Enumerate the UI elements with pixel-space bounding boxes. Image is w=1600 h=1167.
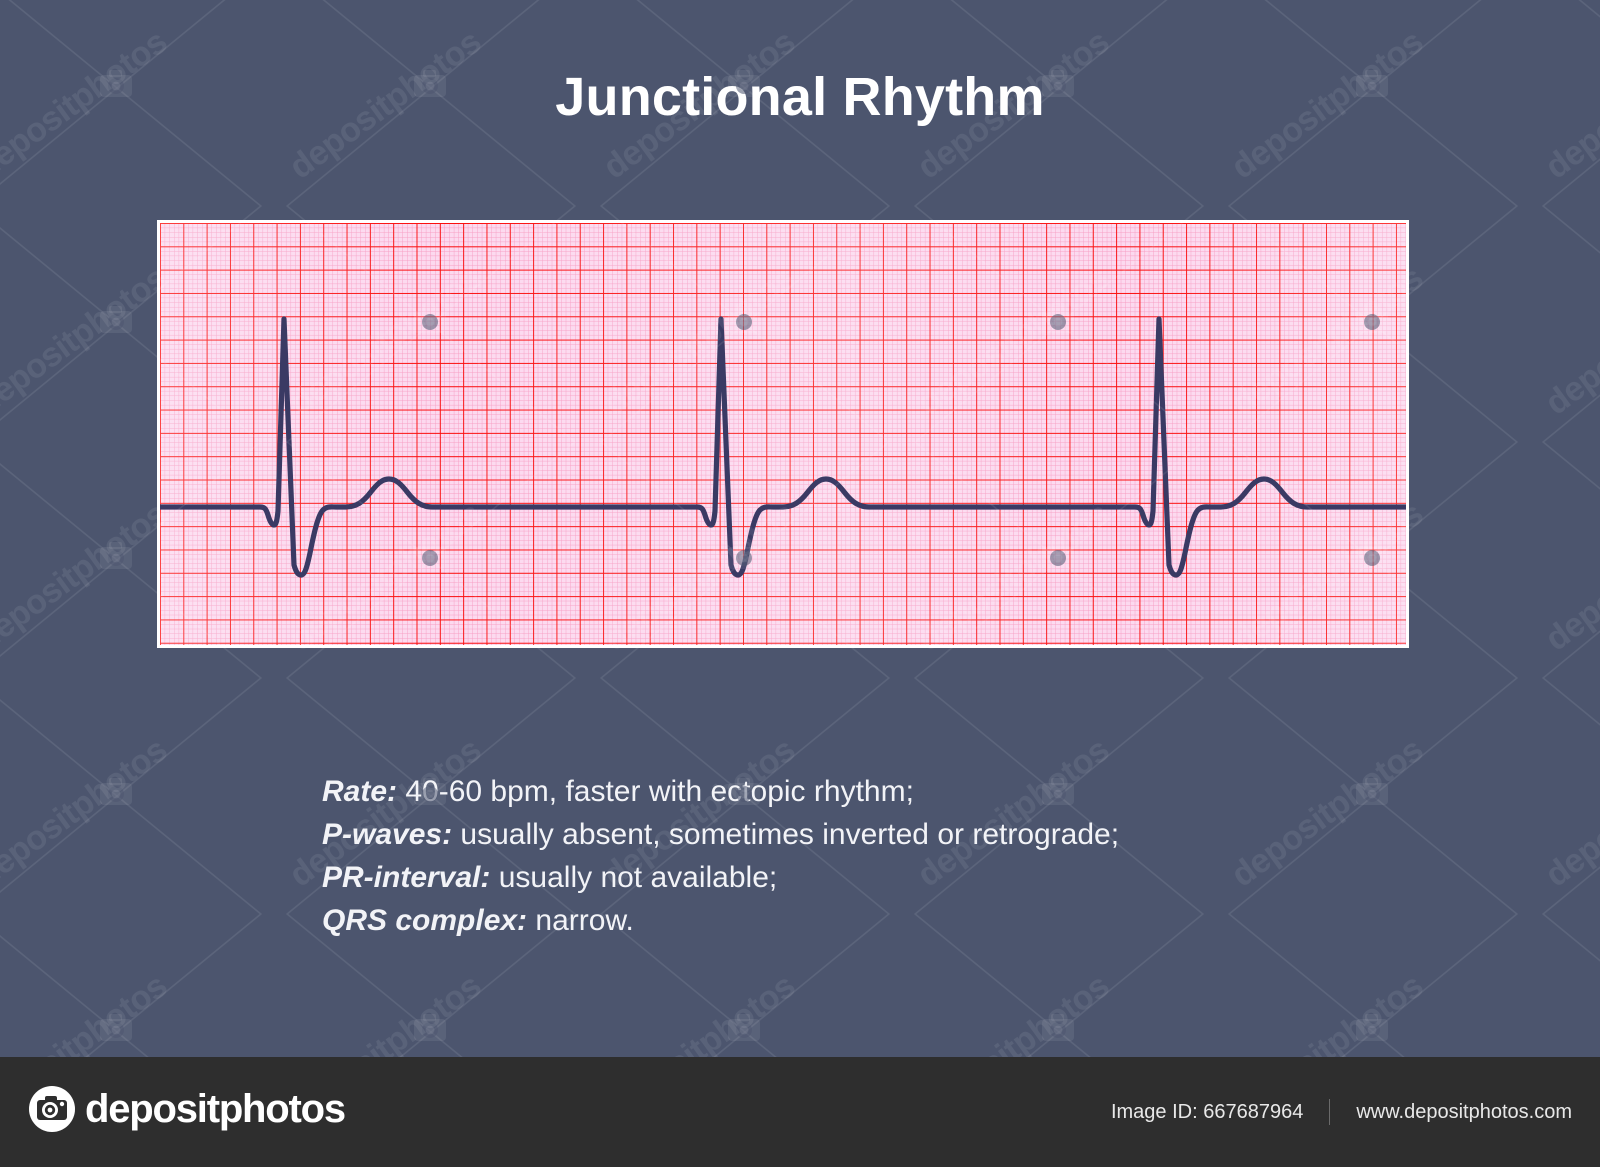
footer-website-link[interactable]: www.depositphotos.com — [1330, 1101, 1572, 1124]
description-label-qrs-complex: QRS complex: — [322, 904, 527, 937]
description-line-qrs-complex: QRS complex: narrow. — [322, 899, 1422, 942]
footer-image-id: Image ID: 667687964 — [1111, 1101, 1329, 1124]
paper-sheen — [160, 223, 1406, 645]
description-value-pr-interval: usually not available; — [499, 861, 778, 894]
footer-meta: Image ID: 667687964 www.depositphotos.co… — [1111, 1057, 1572, 1167]
description-value-qrs-complex: narrow. — [535, 904, 633, 937]
description-label-pr-interval: PR-interval: — [322, 861, 490, 894]
description-line-p-waves: P-waves: usually absent, sometimes inver… — [322, 813, 1422, 856]
camera-icon — [28, 1085, 76, 1133]
description-label-rate: Rate: — [322, 775, 397, 808]
description-block: Rate: 40-60 bpm, faster with ectopic rhy… — [322, 770, 1422, 942]
description-value-p-waves: usually absent, sometimes inverted or re… — [460, 818, 1119, 851]
ecg-strip — [160, 223, 1406, 645]
ecg-chart — [160, 223, 1406, 645]
footer-logo-text: depositphotos — [85, 1087, 345, 1132]
description-line-rate: Rate: 40-60 bpm, faster with ectopic rhy… — [322, 770, 1422, 813]
footer-bar: depositphotos Image ID: 667687964 www.de… — [0, 1057, 1600, 1167]
footer-logo[interactable]: depositphotos — [28, 1085, 345, 1133]
page-title: Junctional Rhythm — [0, 66, 1600, 128]
description-line-pr-interval: PR-interval: usually not available; — [322, 856, 1422, 899]
description-value-rate: 40-60 bpm, faster with ectopic rhythm; — [405, 775, 914, 808]
ecg-panel — [157, 220, 1409, 648]
description-label-p-waves: P-waves: — [322, 818, 452, 851]
